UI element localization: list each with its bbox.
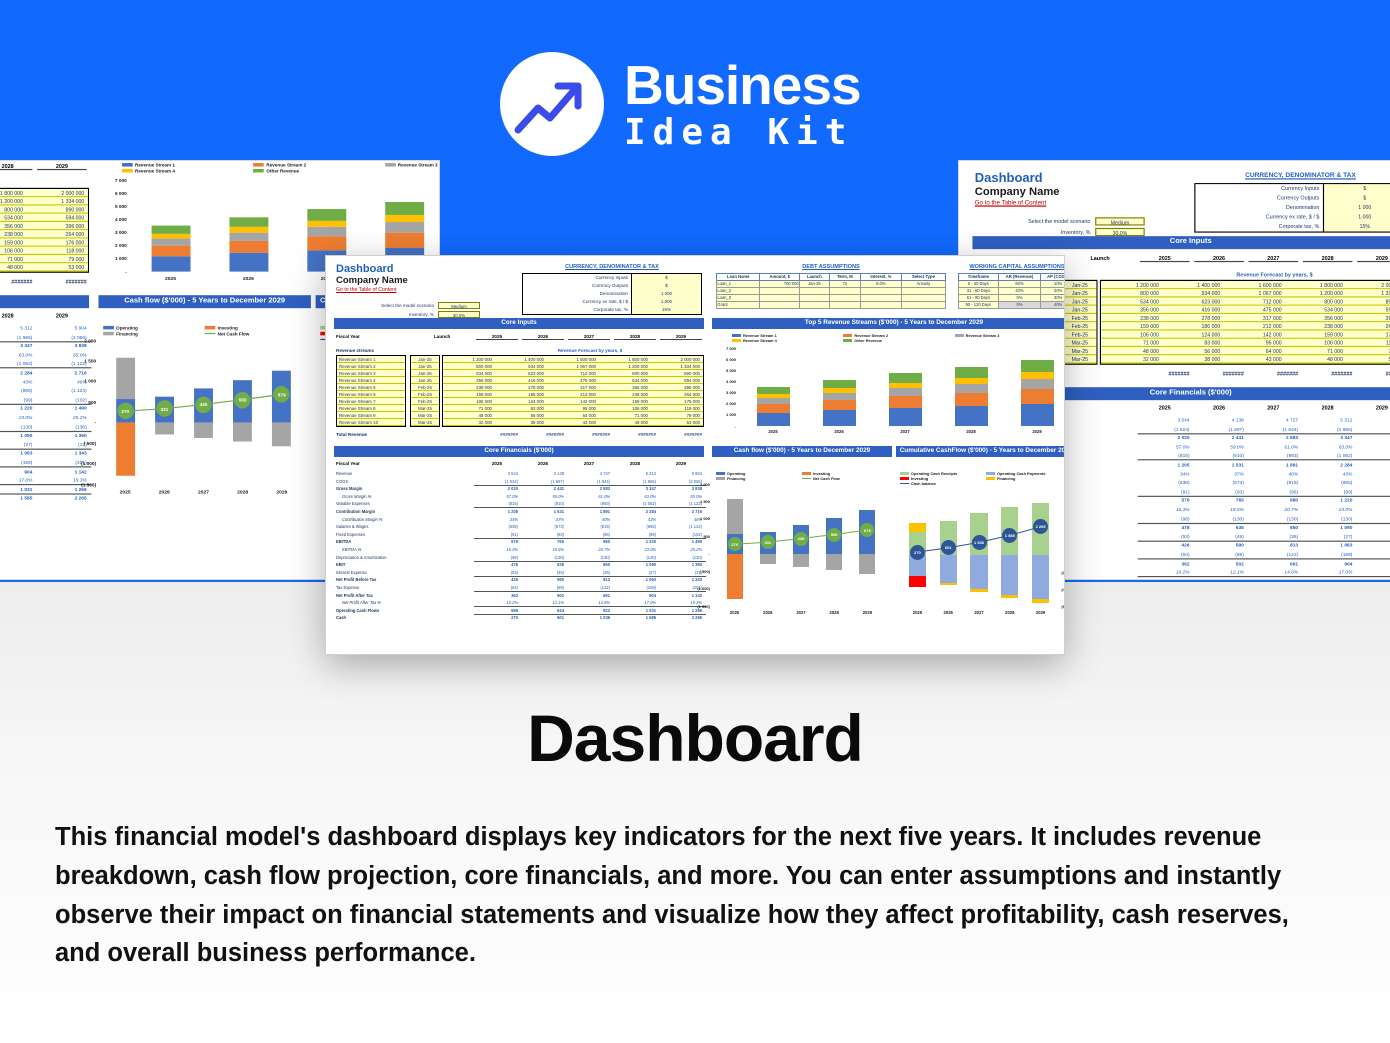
revenue-forecast-cell[interactable]: 534 000 <box>599 377 651 384</box>
revenue-forecast-cell[interactable]: 800 000 <box>1101 289 1162 297</box>
revenue-forecast-cell[interactable]: 32 000 <box>443 419 495 426</box>
financial-row-value: (815) <box>1140 453 1190 459</box>
wc-cell[interactable]: 61 - 90 Days <box>959 294 999 301</box>
debt-cell[interactable] <box>760 294 800 301</box>
revenue-forecast-cell[interactable]: 396 000 <box>26 222 87 230</box>
scenario-select[interactable]: Medium <box>1095 217 1145 225</box>
chart-data-bubble: 270 <box>728 537 742 551</box>
revenue-forecast-cell[interactable]: 934 000 <box>495 363 547 370</box>
revenue-forecast-cell[interactable]: 83 000 <box>495 405 547 412</box>
revenue-forecast-cell[interactable]: 79 000 <box>651 412 703 419</box>
revenue-forecast-cell[interactable]: 56 000 <box>1162 347 1223 355</box>
financial-row-value: 25.2% <box>1357 506 1390 512</box>
revenue-stream-name[interactable]: Revenue Stream 9 <box>337 412 405 419</box>
debt-cell[interactable] <box>800 301 830 308</box>
revenue-stream-launch[interactable]: Jan-25 <box>411 377 439 384</box>
revenue-forecast-cell[interactable]: 534 000 <box>0 214 26 222</box>
revenue-forecast-cell[interactable]: 176 000 <box>26 239 87 247</box>
financial-row-value: 823 <box>1249 578 1299 580</box>
revenue-forecast-cell[interactable]: 416 000 <box>1162 306 1223 314</box>
revenue-forecast-cell[interactable]: 890 000 <box>1347 298 1390 306</box>
financial-row-value: 1 343 <box>660 577 702 582</box>
chart-ytick: (1 500) <box>692 604 710 609</box>
revenue-forecast-cell[interactable]: 2 000 000 <box>26 189 87 197</box>
financial-row-value: 5 312 <box>1303 417 1353 423</box>
revenue-forecast-cell[interactable]: 890 000 <box>651 370 703 377</box>
financial-row-value: 1 585 <box>0 495 32 501</box>
brand-logo: Business Idea Kit <box>500 52 861 156</box>
revenue-forecast-cell[interactable]: 48 000 <box>443 412 495 419</box>
revenue-stream-name[interactable]: Revenue Stream 2 <box>337 363 405 370</box>
revenue-forecast-cell[interactable]: 1 200 000 <box>1285 289 1346 297</box>
chart-bar-segment <box>823 410 856 426</box>
revenue-stream-name[interactable]: Revenue Stream 4 <box>337 377 405 384</box>
financial-row-value: (159) <box>1303 551 1353 557</box>
revenue-stream-name[interactable]: Revenue Stream 7 <box>337 398 405 405</box>
legend-swatch <box>122 163 133 167</box>
revenue-stream-launch[interactable]: Mar-25 <box>411 419 439 426</box>
debt-cell[interactable] <box>829 287 860 294</box>
revenue-forecast-cell[interactable]: 1 334 000 <box>1347 289 1390 297</box>
revenue-forecast-cell[interactable]: 53 000 <box>1347 355 1390 363</box>
revenue-stream-name[interactable]: Revenue Stream 5 <box>337 384 405 391</box>
total-revenue-value: ####### <box>1357 371 1390 377</box>
row-divider <box>0 430 91 431</box>
wc-cell[interactable]: 10% <box>1041 280 1065 287</box>
debt-cell[interactable] <box>829 301 860 308</box>
revenue-forecast-cell[interactable]: 106 000 <box>1285 339 1346 347</box>
table-row: 356 000416 000475 000534 000594 000 <box>0 214 88 222</box>
wc-cell[interactable]: 20% <box>1041 287 1065 294</box>
financial-row-value: 576 <box>1140 497 1190 503</box>
revenue-forecast-cell[interactable]: 800 000 <box>0 206 26 214</box>
revenue-forecast-cell[interactable]: 416 000 <box>495 377 547 384</box>
revenue-forecast-cell[interactable]: 53 000 <box>651 419 703 426</box>
debt-cell[interactable] <box>860 294 901 301</box>
financial-row-value: 823 <box>568 608 610 613</box>
currency-row-value[interactable]: $ <box>631 282 701 290</box>
chart-bar-segment <box>1001 595 1018 598</box>
legend-label: Net Cash Flow <box>813 476 840 481</box>
financial-row-value: 426 <box>476 577 518 582</box>
debt-cell[interactable] <box>901 287 945 294</box>
chart-bar-segment <box>1001 555 1018 595</box>
financial-row-value: 1 891 <box>1249 462 1299 468</box>
revenue-forecast-cell[interactable]: 356 000 <box>0 222 26 230</box>
revenue-forecast-cell[interactable]: 890 000 <box>26 206 87 214</box>
revenue-forecast-cell[interactable]: 356 000 <box>443 377 495 384</box>
revenue-forecast-cell[interactable]: 934 000 <box>1162 289 1223 297</box>
financial-row-value: 43% <box>614 517 656 522</box>
chart-bar-segment <box>385 232 424 248</box>
revenue-forecast-cell[interactable]: 186 000 <box>495 391 547 398</box>
financial-row-value: 1 142 <box>37 468 87 474</box>
financial-row-value: (98) <box>476 555 518 560</box>
revenue-stream-launch[interactable]: Feb-25 <box>1063 314 1096 322</box>
currency-row-value[interactable]: $ <box>1323 184 1390 193</box>
financial-row-value: (965) <box>1303 479 1353 485</box>
wc-cell[interactable]: 90 - 120 Days <box>959 301 999 308</box>
inventory-input[interactable]: 30.0% <box>438 311 480 318</box>
total-revenue-value: ####### <box>1249 371 1299 377</box>
core-financials-band: Core Financials ($'000) <box>0 295 89 308</box>
financial-row-value: 5 904 <box>1357 417 1390 423</box>
revenue-stream-launch[interactable]: Jan-25 <box>411 370 439 377</box>
revenue-forecast-cell[interactable]: 83 000 <box>1162 339 1223 347</box>
revenue-forecast-cell[interactable]: 71 000 <box>443 405 495 412</box>
revenue-forecast-cell[interactable]: 1 600 000 <box>1224 281 1285 289</box>
revenue-forecast-cell[interactable]: 800 000 <box>443 363 495 370</box>
revenue-forecast-cell[interactable]: 1 067 000 <box>1224 289 1285 297</box>
wc-cell[interactable]: 0% <box>998 294 1041 301</box>
revenue-forecast-cell[interactable]: 186 000 <box>1162 322 1223 330</box>
revenue-forecast-cell[interactable]: 38 000 <box>495 419 547 426</box>
wc-cell[interactable]: 0 - 30 Days <box>959 280 999 287</box>
revenue-stream-launch[interactable]: Feb-25 <box>1063 331 1096 339</box>
financial-row-value: 4 138 <box>1194 417 1244 423</box>
debt-cell[interactable]: Grant <box>717 301 760 308</box>
financial-row-value: 2 716 <box>660 509 702 514</box>
chart-bar-segment <box>889 383 922 388</box>
revenue-forecast-cell[interactable]: 534 000 <box>1101 298 1162 306</box>
revenue-forecast-cell[interactable]: 53 000 <box>26 263 87 271</box>
revenue-forecast-cell[interactable]: 396 000 <box>1347 314 1390 322</box>
revenue-forecast-cell[interactable]: 48 000 <box>599 419 651 426</box>
revenue-forecast-cell[interactable]: 71 000 <box>1285 347 1346 355</box>
revenue-stream-name[interactable]: Revenue Stream 6 <box>337 391 405 398</box>
revenue-forecast-cell[interactable]: 43 000 <box>547 419 599 426</box>
chart-ytick: (4 000) <box>1054 587 1065 592</box>
debt-cell[interactable] <box>760 301 800 308</box>
financial-row-value: 4 727 <box>568 471 610 476</box>
chart-bar-segment <box>727 554 743 599</box>
currency-row-value[interactable]: $ <box>1323 194 1390 203</box>
chart-bar-segment <box>307 221 346 227</box>
chart-ytick: 2 000 <box>692 482 710 487</box>
debt-cell[interactable]: Jan-25 <box>800 280 830 287</box>
debt-cell[interactable]: Loan_3 <box>717 294 760 301</box>
page-description: This financial model's dashboard display… <box>55 818 1340 973</box>
revenue-forecast-cell[interactable]: 95 000 <box>1224 339 1285 347</box>
revenue-forecast-cell[interactable]: 800 000 <box>599 370 651 377</box>
table-row: 48 00056 00064 00071 00079 000 <box>443 412 703 419</box>
revenue-stream-launch[interactable]: Jan-25 <box>1063 298 1096 306</box>
inventory-input[interactable]: 30.0% <box>1095 228 1145 236</box>
revenue-forecast-title: Revenue Forecast by years, $ <box>476 348 704 353</box>
financial-row-value: (965) <box>0 387 32 393</box>
currency-row-value[interactable]: 1 000 <box>1323 203 1390 212</box>
revenue-forecast-cell[interactable]: 48 000 <box>0 263 26 271</box>
revenue-forecast-cell[interactable]: 1 400 000 <box>495 356 547 363</box>
revenue-stream-name[interactable]: Revenue Stream 3 <box>337 370 405 377</box>
revenue-forecast-cell[interactable]: 71 000 <box>599 412 651 419</box>
revenue-forecast-cell[interactable]: 712 000 <box>1224 298 1285 306</box>
wc-cell[interactable]: 0% <box>998 301 1041 308</box>
chart-data-bubble: 601 <box>941 540 956 555</box>
total-revenue-value: ####### <box>1303 371 1353 377</box>
row-divider <box>1138 576 1390 577</box>
revenue-forecast-cell[interactable]: 356 000 <box>1101 306 1162 314</box>
revenue-streams-label: Revenue streams <box>336 348 374 353</box>
debt-cell[interactable] <box>829 294 860 301</box>
financial-row-value: (64) <box>476 585 518 590</box>
currency-row: Currency Outputs$ <box>1195 194 1390 203</box>
revenue-forecast-cell[interactable]: 124 000 <box>1162 331 1223 339</box>
currency-row-value[interactable]: 1.000 <box>1323 213 1390 222</box>
revenue-forecast-cell[interactable]: 800 000 <box>1285 298 1346 306</box>
legend-label: Net Cash Flow <box>218 331 250 337</box>
revenue-forecast-cell[interactable]: 118 000 <box>1347 339 1390 347</box>
financial-row-label: EBIT <box>336 562 345 567</box>
revenue-forecast-cell[interactable]: 106 000 <box>1101 331 1162 339</box>
revenue-forecast-cell[interactable]: 159 000 <box>1285 331 1346 339</box>
wc-cell[interactable]: 40% <box>998 287 1041 294</box>
revenue-forecast-cell[interactable]: 106 000 <box>443 398 495 405</box>
revenue-forecast-cell[interactable]: 317 000 <box>1224 314 1285 322</box>
revenue-stream-launch[interactable]: Feb-25 <box>411 391 439 398</box>
revenue-stream-name[interactable]: Revenue Stream 8 <box>337 405 405 412</box>
legend-label: Financing <box>727 476 745 481</box>
revenue-stream-launch[interactable]: Feb-25 <box>411 384 439 391</box>
financial-row-value: (130) <box>1357 515 1390 521</box>
financial-row-value: (122) <box>568 585 610 590</box>
revenue-forecast-cell[interactable]: 238 000 <box>599 391 651 398</box>
revenue-stream-launch[interactable]: Mar-25 <box>1063 355 1096 363</box>
debt-col-header: Launch <box>800 274 830 281</box>
core-financials-year: 2028 <box>1303 405 1353 411</box>
revenue-forecast-cell[interactable]: 176 000 <box>1347 331 1390 339</box>
revenue-forecast-cell[interactable]: 594 000 <box>651 377 703 384</box>
revenue-stream-name[interactable]: Revenue Stream 10 <box>337 419 405 426</box>
revenue-forecast-cell[interactable]: 1 200 000 <box>1101 281 1162 289</box>
revenue-forecast-cell[interactable]: 475 000 <box>547 377 599 384</box>
total-revenue-value: ####### <box>660 432 702 437</box>
revenue-forecast-cell[interactable]: 106 000 <box>0 247 26 255</box>
currency-row-label: Currency Outputs <box>523 282 631 290</box>
revenue-forecast-cell[interactable]: 264 000 <box>1347 322 1390 330</box>
revenue-forecast-cell[interactable]: 356 000 <box>599 384 651 391</box>
revenue-forecast-cell[interactable]: 623 000 <box>1162 298 1223 306</box>
revenue-stream-launch[interactable]: Mar-25 <box>1063 339 1096 347</box>
revenue-forecast-cell[interactable]: 317 000 <box>547 384 599 391</box>
financial-row-value: 3 838 <box>37 343 87 349</box>
revenue-forecast-cell[interactable]: 159 000 <box>443 391 495 398</box>
revenue-forecast-cell[interactable]: 475 000 <box>1224 306 1285 314</box>
revenue-forecast-cell[interactable]: 71 000 <box>1101 339 1162 347</box>
table-of-content-link[interactable]: Go to the Table of Content <box>975 200 1046 207</box>
revenue-forecast-cell[interactable]: 1 800 000 <box>599 356 651 363</box>
financial-row-value: 18.5% <box>1194 506 1244 512</box>
revenue-forecast-cell[interactable]: 48 000 <box>1101 347 1162 355</box>
revenue-forecast-cell[interactable]: 1 334 000 <box>651 363 703 370</box>
financial-row-value: 2 265 <box>660 615 702 620</box>
screenshot-main-dashboard[interactable]: DashboardCompany NameGo to the Table of … <box>325 255 1065 655</box>
chart-bar-segment <box>385 202 424 215</box>
revenue-stream-launch[interactable]: Mar-25 <box>411 405 439 412</box>
revenue-forecast-cell[interactable]: 534 000 <box>1285 306 1346 314</box>
chart-bar-segment <box>955 406 988 426</box>
table-row: Grant <box>717 301 946 308</box>
revenue-forecast-cell[interactable]: 278 000 <box>495 384 547 391</box>
page-title: Dashboard <box>0 700 1390 776</box>
revenue-forecast-cell[interactable]: 176 000 <box>651 398 703 405</box>
revenue-stream-launch[interactable]: Mar-25 <box>1063 347 1096 355</box>
revenue-forecast-cell[interactable]: 594 000 <box>1347 306 1390 314</box>
revenue-forecast-cell[interactable]: 43 000 <box>1224 355 1285 363</box>
revenue-forecast-cell[interactable]: 396 000 <box>651 384 703 391</box>
revenue-forecast-cell[interactable]: 159 000 <box>0 239 26 247</box>
revenue-forecast-cell[interactable]: 1 200 000 <box>443 356 495 363</box>
wc-cell[interactable]: 40% <box>1041 301 1065 308</box>
financial-row-value: 1 360 <box>1357 524 1390 530</box>
financial-row-value: 1 220 <box>614 539 656 544</box>
debt-cell[interactable] <box>901 294 945 301</box>
row-divider <box>474 485 706 486</box>
revenue-forecast-cell[interactable]: 1 800 000 <box>0 189 26 197</box>
debt-cell[interactable] <box>800 287 830 294</box>
financial-row-value: 1 490 <box>660 539 702 544</box>
currency-row-value[interactable]: 1 000 <box>631 290 701 298</box>
chart-ytick: 5 000 <box>98 203 126 209</box>
chart-bar-segment <box>229 253 268 271</box>
revenue-forecast-cell[interactable]: 38 000 <box>1162 355 1223 363</box>
row-divider <box>0 493 91 494</box>
revenue-stream-launch[interactable]: Jan-25 <box>411 356 439 363</box>
revenue-forecast-cell[interactable]: 1 067 000 <box>547 363 599 370</box>
revenue-stream-launch[interactable]: Mar-25 <box>411 412 439 419</box>
financial-row-value: (993) <box>1249 453 1299 459</box>
chart-bar-segment <box>757 413 790 426</box>
table-row: 800 000934 0001 067 0001 200 0001 334 00… <box>443 363 703 370</box>
revenue-forecast-cell[interactable]: 238 000 <box>1101 314 1162 322</box>
scenario-select[interactable]: Medium <box>438 302 480 309</box>
financial-row-label: Contribution Margin <box>336 509 375 514</box>
revenue-stream-launch[interactable]: Jan-25 <box>411 363 439 370</box>
revenue-forecast-cell[interactable]: 106 000 <box>599 405 651 412</box>
revenue-stream-launch[interactable]: Jan-25 <box>1063 306 1096 314</box>
revenue-forecast-cell[interactable]: 2 000 000 <box>651 356 703 363</box>
revenue-forecast-cell[interactable]: 118 000 <box>26 247 87 255</box>
revenue-forecast-cell[interactable]: 118 000 <box>651 405 703 412</box>
revenue-forecast-cell[interactable]: 159 000 <box>1101 322 1162 330</box>
financial-row-value: 1 266 <box>1357 578 1390 580</box>
financial-row-value: 4 138 <box>522 471 564 476</box>
revenue-forecast-cell[interactable]: 1 334 000 <box>26 197 87 205</box>
revenue-forecast-cell[interactable]: 212 000 <box>547 391 599 398</box>
revenue-forecast-cell[interactable]: 142 000 <box>547 398 599 405</box>
revenue-forecast-cell[interactable]: 238 000 <box>0 230 26 238</box>
wc-cell[interactable]: 31 - 60 Days <box>959 287 999 294</box>
revenue-forecast-cell[interactable]: 56 000 <box>495 412 547 419</box>
revenue-forecast-cell[interactable]: 623 000 <box>495 370 547 377</box>
debt-cell[interactable] <box>860 287 901 294</box>
wc-cell[interactable]: 60% <box>998 280 1041 287</box>
debt-cell[interactable]: Loan_1 <box>717 280 760 287</box>
financial-row-value: 634 <box>1194 578 1244 580</box>
debt-cell[interactable]: Annuity <box>901 280 945 287</box>
revenue-stream-names: Revenue Stream 1Revenue Stream 2Revenue … <box>336 355 406 427</box>
revenue-forecast-cell[interactable]: 594 000 <box>26 214 87 222</box>
growth-arrow-icon <box>500 52 604 156</box>
revenue-forecast-cell[interactable]: 64 000 <box>547 412 599 419</box>
revenue-forecast-cell[interactable]: 2 000 000 <box>1347 281 1390 289</box>
revenue-stream-launch[interactable]: Jan-25 <box>1063 281 1096 289</box>
revenue-forecast-cell[interactable]: 1 600 000 <box>547 356 599 363</box>
revenue-forecast-cell[interactable]: 79 000 <box>26 255 87 263</box>
wc-cell[interactable]: 30% <box>1041 294 1065 301</box>
chart-xtick: 2025 <box>106 489 145 495</box>
financial-row-value: 1 063 <box>614 577 656 582</box>
revenue-forecast-cell[interactable]: 712 000 <box>547 370 599 377</box>
currency-row-value[interactable]: 15% <box>631 306 701 314</box>
currency-row-value[interactable]: $ <box>631 274 701 282</box>
core-inputs-year: 2028 <box>1303 255 1353 262</box>
revenue-stream-launch[interactable]: Feb-25 <box>1063 322 1096 330</box>
revenue-forecast-cell[interactable]: 238 000 <box>443 384 495 391</box>
revenue-forecast-cell[interactable]: 32 000 <box>1101 355 1162 363</box>
currency-row-label: Currency Inputs <box>1195 184 1322 193</box>
debt-cell[interactable]: 8.0% <box>860 280 901 287</box>
revenue-forecast-cell[interactable]: 71 000 <box>0 255 26 263</box>
revenue-forecast-cell[interactable]: 142 000 <box>1224 331 1285 339</box>
debt-cell[interactable] <box>760 287 800 294</box>
table-of-content-link[interactable]: Go to the Table of Content <box>336 287 396 293</box>
financial-row-value: (815) <box>476 501 518 506</box>
revenue-forecast-cell[interactable]: 278 000 <box>1162 314 1223 322</box>
revenue-stream-launch[interactable]: Feb-25 <box>411 398 439 405</box>
chart-bar-segment <box>823 393 856 400</box>
currency-row-value[interactable]: 15% <box>1323 222 1390 231</box>
legend-swatch <box>955 334 964 337</box>
chart-legend-item: Cash balance <box>900 481 936 486</box>
revenue-forecast-cell[interactable]: 1 200 000 <box>599 363 651 370</box>
debt-cell[interactable]: 72 <box>829 280 860 287</box>
revenue-stream-launch[interactable]: Jan-25 <box>1063 289 1096 297</box>
financial-row-value: 65.0% <box>37 352 87 358</box>
revenue-forecast-cell[interactable]: 212 000 <box>1224 322 1285 330</box>
revenue-forecast-cell[interactable]: 64 000 <box>1224 347 1285 355</box>
revenue-forecast-cell[interactable]: 534 000 <box>443 370 495 377</box>
revenue-forecast-cell[interactable]: 1 800 000 <box>1285 281 1346 289</box>
revenue-forecast-cell[interactable]: 238 000 <box>1285 322 1346 330</box>
chart-bar-segment <box>1021 379 1054 389</box>
debt-cell[interactable]: 700 000 <box>760 280 800 287</box>
financial-row-value: 904 <box>1303 560 1353 566</box>
financial-row-label: Salaries & Wages <box>336 524 368 529</box>
table-row: 106 000124 000142 000159 000176 000 <box>0 239 88 247</box>
revenue-forecast-cell[interactable]: 264 000 <box>651 391 703 398</box>
revenue-stream-name[interactable]: Revenue Stream 1 <box>337 356 405 363</box>
revenue-forecast-cell[interactable]: 79 000 <box>1347 347 1390 355</box>
revenue-forecast-cell[interactable]: 1 400 000 <box>1162 281 1223 289</box>
debt-cell[interactable]: Loan_2 <box>717 287 760 294</box>
revenue-forecast-cell[interactable]: 48 000 <box>1285 355 1346 363</box>
revenue-forecast-cell[interactable]: 356 000 <box>1285 314 1346 322</box>
table-row: 106 000124 000142 000159 000176 000 <box>1101 331 1390 339</box>
debt-cell[interactable] <box>860 301 901 308</box>
chart-ytick: - <box>75 419 96 425</box>
currency-row-label: Currency ex rate, $ / $ <box>523 298 631 306</box>
revenue-forecast-cell[interactable]: 95 000 <box>547 405 599 412</box>
debt-cell[interactable] <box>800 294 830 301</box>
revenue-forecast-cell[interactable]: 124 000 <box>495 398 547 405</box>
debt-cell[interactable] <box>901 301 945 308</box>
revenue-forecast-cell[interactable]: 264 000 <box>26 230 87 238</box>
revenue-forecast-cell[interactable]: 1 200 000 <box>0 197 26 205</box>
legend-label: Revenue Stream 4 <box>135 168 175 174</box>
currency-row-value[interactable]: 1.000 <box>631 298 701 306</box>
revenue-forecast-cell[interactable]: 159 000 <box>599 398 651 405</box>
